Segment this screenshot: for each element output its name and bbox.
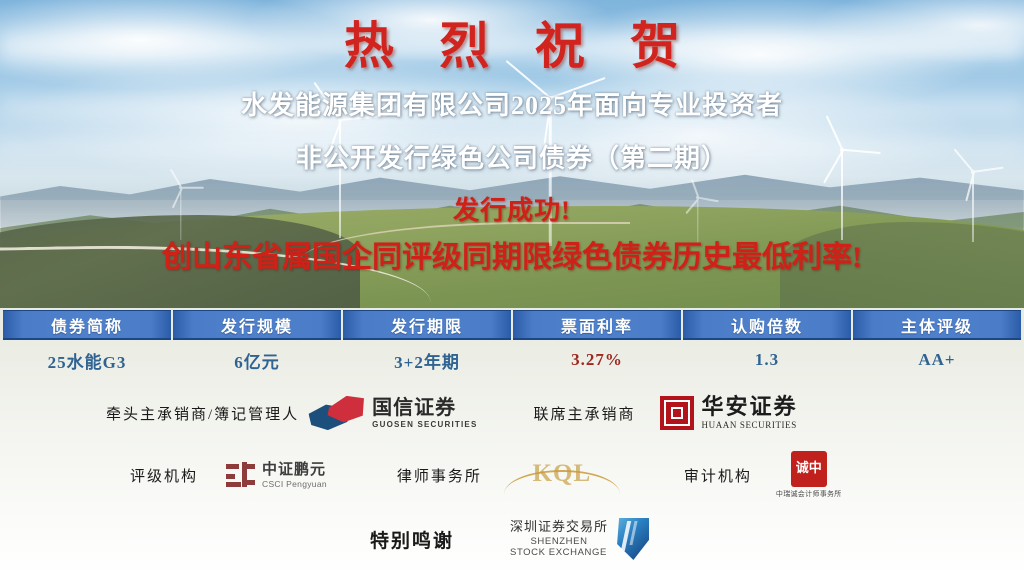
table-cell: 3+2年期 <box>343 340 511 380</box>
szse-name-en-2: STOCK EXCHANGE <box>510 548 607 558</box>
partner-row-2: 评级机构 中证鹏元 CSCI Pengyuan 律师事务所 KQ <box>0 452 1024 498</box>
partner-row-3: 特别鸣谢 深圳证券交易所 SHENZHEN STOCK EXCHANGE <box>0 514 1024 564</box>
table-cell: 25水能G3 <box>3 340 171 380</box>
rating-agency-label: 评级机构 <box>130 465 198 486</box>
joint-underwriter-label: 联席主承销商 <box>533 403 635 424</box>
csci-wordmark: 中证鹏元 CSCI Pengyuan <box>262 462 327 489</box>
table-header-cell: 发行期限 <box>343 310 511 340</box>
guosen-name-en: GUOSEN SECURITIES <box>372 421 477 429</box>
table-header-cell: 票面利率 <box>513 310 681 340</box>
table-header-cell: 认购倍数 <box>683 310 851 340</box>
szse-wordmark: 深圳证券交易所 SHENZHEN STOCK EXCHANGE <box>510 520 608 558</box>
page-title: 热 烈 祝 贺 <box>0 6 1024 78</box>
rating-agency-group: 评级机构 中证鹏元 CSCI Pengyuan <box>130 462 327 489</box>
table-header-cell: 发行规模 <box>173 310 341 340</box>
law-firm-label: 律师事务所 <box>397 465 482 486</box>
csci-name-cn: 中证鹏元 <box>262 462 327 477</box>
shenzhen-stock-exchange-logo: 深圳证券交易所 SHENZHEN STOCK EXCHANGE <box>510 518 649 560</box>
kql-law-firm-logo: KQL <box>502 458 622 492</box>
huaan-wordmark: 华安证券 HUAAN SECURITIES <box>702 396 798 430</box>
hero-text-block: 热 烈 祝 贺 水发能源集团有限公司2025年面向专业投资者 非公开发行绿色公司… <box>0 0 1024 308</box>
highlight-line-2: 创山东省属国企同评级同期限绿色债券历史最低利率! <box>0 232 1024 276</box>
subtitle-line-1: 水发能源集团有限公司2025年面向专业投资者 <box>0 85 1024 122</box>
table-header-row: 债券简称 发行规模 发行期限 票面利率 认购倍数 主体评级 <box>2 310 1022 340</box>
partner-row-1: 牵头主承销商/簿记管理人 国信证券 GUOSEN SECURITIES 联席主承… <box>0 390 1024 436</box>
guosen-wordmark: 国信证券 GUOSEN SECURITIES <box>372 398 477 429</box>
table-cell: 1.3 <box>683 340 851 380</box>
huaan-securities-logo: 华安证券 HUAAN SECURITIES <box>660 396 798 430</box>
zhongruicheng-logo: 诚中 中瑞诚会计师事务所 <box>776 451 842 499</box>
zhongrui-caption: 中瑞诚会计师事务所 <box>776 489 842 499</box>
guosen-mark-icon <box>309 396 365 430</box>
law-firm-group: 律师事务所 KQL <box>397 458 622 492</box>
bond-issuance-celebration-poster: 热 烈 祝 贺 水发能源集团有限公司2025年面向专业投资者 非公开发行绿色公司… <box>0 0 1024 576</box>
csci-mark-icon <box>226 462 256 488</box>
table-cell: AA+ <box>853 340 1021 380</box>
guosen-securities-logo: 国信证券 GUOSEN SECURITIES <box>309 396 477 430</box>
table-cell-coupon-rate: 3.27% <box>513 340 681 380</box>
auditor-group: 审计机构 诚中 中瑞诚会计师事务所 <box>684 451 842 499</box>
lead-underwriter-label: 牵头主承销商/簿记管理人 <box>106 403 299 424</box>
huaan-seal-icon <box>660 396 694 430</box>
special-thanks-label: 特别鸣谢 <box>370 526 454 553</box>
subtitle-line-2: 非公开发行绿色公司债券（第二期） <box>0 138 1024 175</box>
joint-underwriter-group: 联席主承销商 华安证券 HUAAN SECURITIES <box>533 396 797 430</box>
table-cell: 6亿元 <box>173 340 341 380</box>
csci-pengyuan-logo: 中证鹏元 CSCI Pengyuan <box>226 462 327 489</box>
szse-name-en-1: SHENZHEN <box>530 537 587 547</box>
table-header-cell: 主体评级 <box>853 310 1021 340</box>
hero-photo-background: 热 烈 祝 贺 水发能源集团有限公司2025年面向专业投资者 非公开发行绿色公司… <box>0 0 1024 308</box>
huaan-name-cn: 华安证券 <box>702 396 798 418</box>
szse-mark-icon <box>615 518 649 560</box>
guosen-name-cn: 国信证券 <box>372 398 477 418</box>
auditor-label: 审计机构 <box>684 465 752 486</box>
huaan-name-en: HUAAN SECURITIES <box>702 421 798 430</box>
special-thanks-group: 特别鸣谢 深圳证券交易所 SHENZHEN STOCK EXCHANGE <box>370 518 649 560</box>
table-header-cell: 债券简称 <box>3 310 171 340</box>
bond-summary-table: 债券简称 发行规模 发行期限 票面利率 认购倍数 主体评级 25水能G3 6亿元… <box>2 310 1022 380</box>
szse-name-cn: 深圳证券交易所 <box>510 520 608 534</box>
highlight-line-1: 发行成功! <box>0 190 1024 227</box>
lead-underwriter-group: 牵头主承销商/簿记管理人 国信证券 GUOSEN SECURITIES <box>106 396 477 430</box>
zhongrui-seal-icon: 诚中 <box>791 451 827 487</box>
csci-name-en: CSCI Pengyuan <box>262 480 327 489</box>
table-value-row: 25水能G3 6亿元 3+2年期 3.27% 1.3 AA+ <box>2 340 1022 380</box>
zhongrui-seal-top: 诚中 <box>796 463 822 475</box>
